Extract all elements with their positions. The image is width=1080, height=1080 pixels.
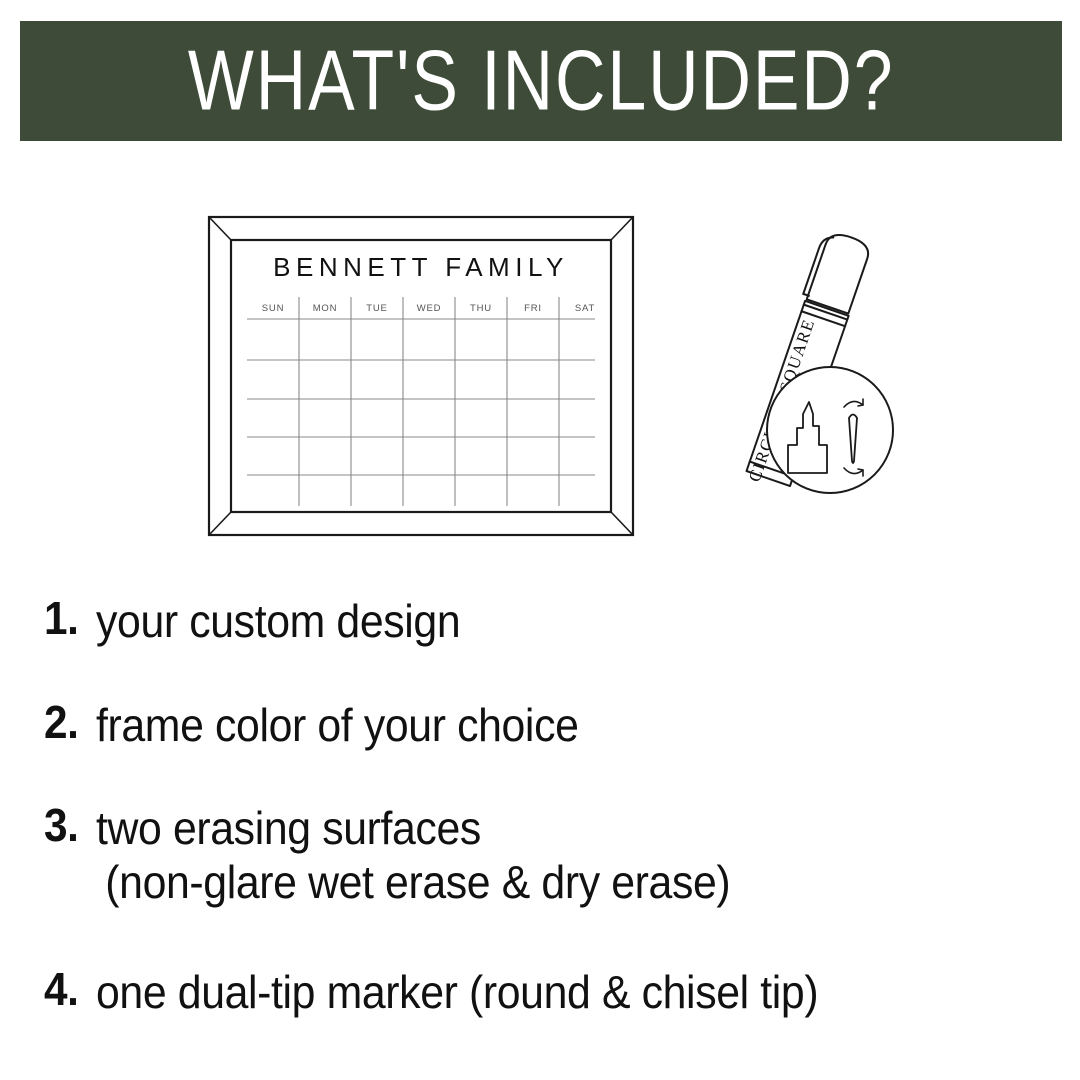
list-item-sublabel: (non-glare wet erase & dry erase) bbox=[96, 855, 730, 909]
svg-text:THU: THU bbox=[470, 303, 492, 314]
list-item-label: two erasing surfaces bbox=[96, 802, 481, 854]
svg-text:TUE: TUE bbox=[366, 303, 387, 314]
list-item: 1. your custom design bbox=[0, 594, 1080, 648]
svg-text:FRI: FRI bbox=[524, 303, 542, 314]
list-item: 3. two erasing surfaces (non-glare wet e… bbox=[0, 801, 1080, 910]
list-item-label: frame color of your choice bbox=[96, 698, 579, 752]
list-item-number: 2. bbox=[44, 698, 92, 747]
list-item-label: one dual-tip marker (round & chisel tip) bbox=[96, 965, 818, 1019]
board-title: BENNETT FAMILY bbox=[273, 252, 569, 282]
page-title: WHAT'S INCLUDED? bbox=[188, 39, 895, 124]
illustration-row: BENNETT FAMILY SUN MON TUE WED THU FRI S… bbox=[0, 190, 1080, 560]
svg-text:WED: WED bbox=[417, 303, 442, 314]
list-item-label: your custom design bbox=[96, 594, 460, 648]
whiteboard-calendar-svg: BENNETT FAMILY SUN MON TUE WED THU FRI S… bbox=[203, 208, 639, 542]
svg-text:SAT: SAT bbox=[575, 303, 595, 314]
list-item-label-group: two erasing surfaces (non-glare wet eras… bbox=[96, 801, 730, 910]
list-item-number: 3. bbox=[44, 801, 92, 850]
svg-text:MON: MON bbox=[313, 303, 338, 314]
dual-tip-marker-svg: CIRCLE & SQUARE bbox=[696, 215, 906, 515]
whiteboard-calendar-illustration: BENNETT FAMILY SUN MON TUE WED THU FRI S… bbox=[203, 208, 639, 542]
list-item-number: 1. bbox=[44, 594, 92, 643]
list-item-number: 4. bbox=[44, 965, 92, 1014]
tip-detail-circle bbox=[767, 367, 893, 493]
included-items-list: 1. your custom design 2. frame color of … bbox=[0, 580, 1080, 1019]
dual-tip-marker-illustration: CIRCLE & SQUARE bbox=[696, 215, 906, 515]
list-item: 4. one dual-tip marker (round & chisel t… bbox=[0, 965, 1080, 1019]
svg-text:SUN: SUN bbox=[262, 303, 284, 314]
header-band: WHAT'S INCLUDED? bbox=[20, 21, 1062, 141]
list-item: 2. frame color of your choice bbox=[0, 698, 1080, 752]
